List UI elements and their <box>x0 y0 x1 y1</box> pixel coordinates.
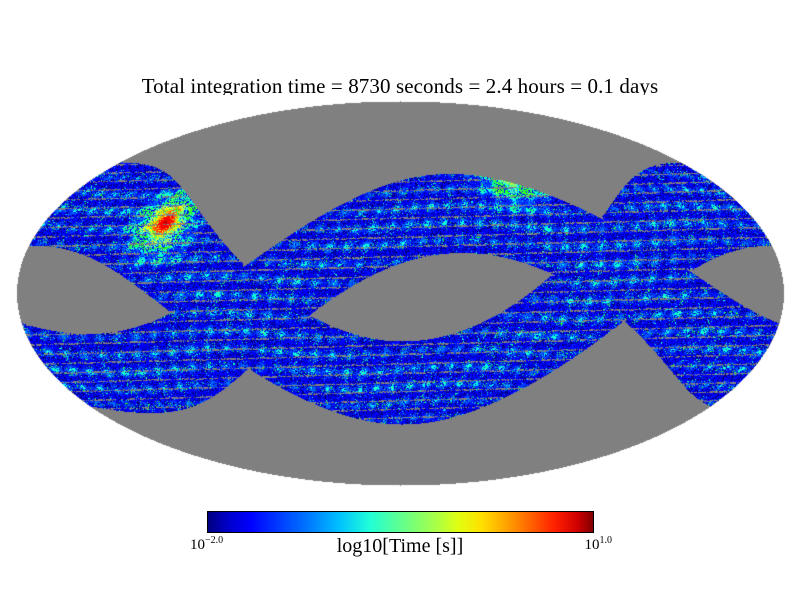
mollweide-sky-map <box>10 95 790 491</box>
colorbar-axis-label: log10[Time [s]] <box>195 535 605 558</box>
colorbar: 10−2.0 101.0 log10[Time [s]] <box>195 508 605 570</box>
figure-canvas-area: Total integration time = 8730 seconds = … <box>0 0 800 600</box>
colorbar-gradient <box>207 511 594 533</box>
